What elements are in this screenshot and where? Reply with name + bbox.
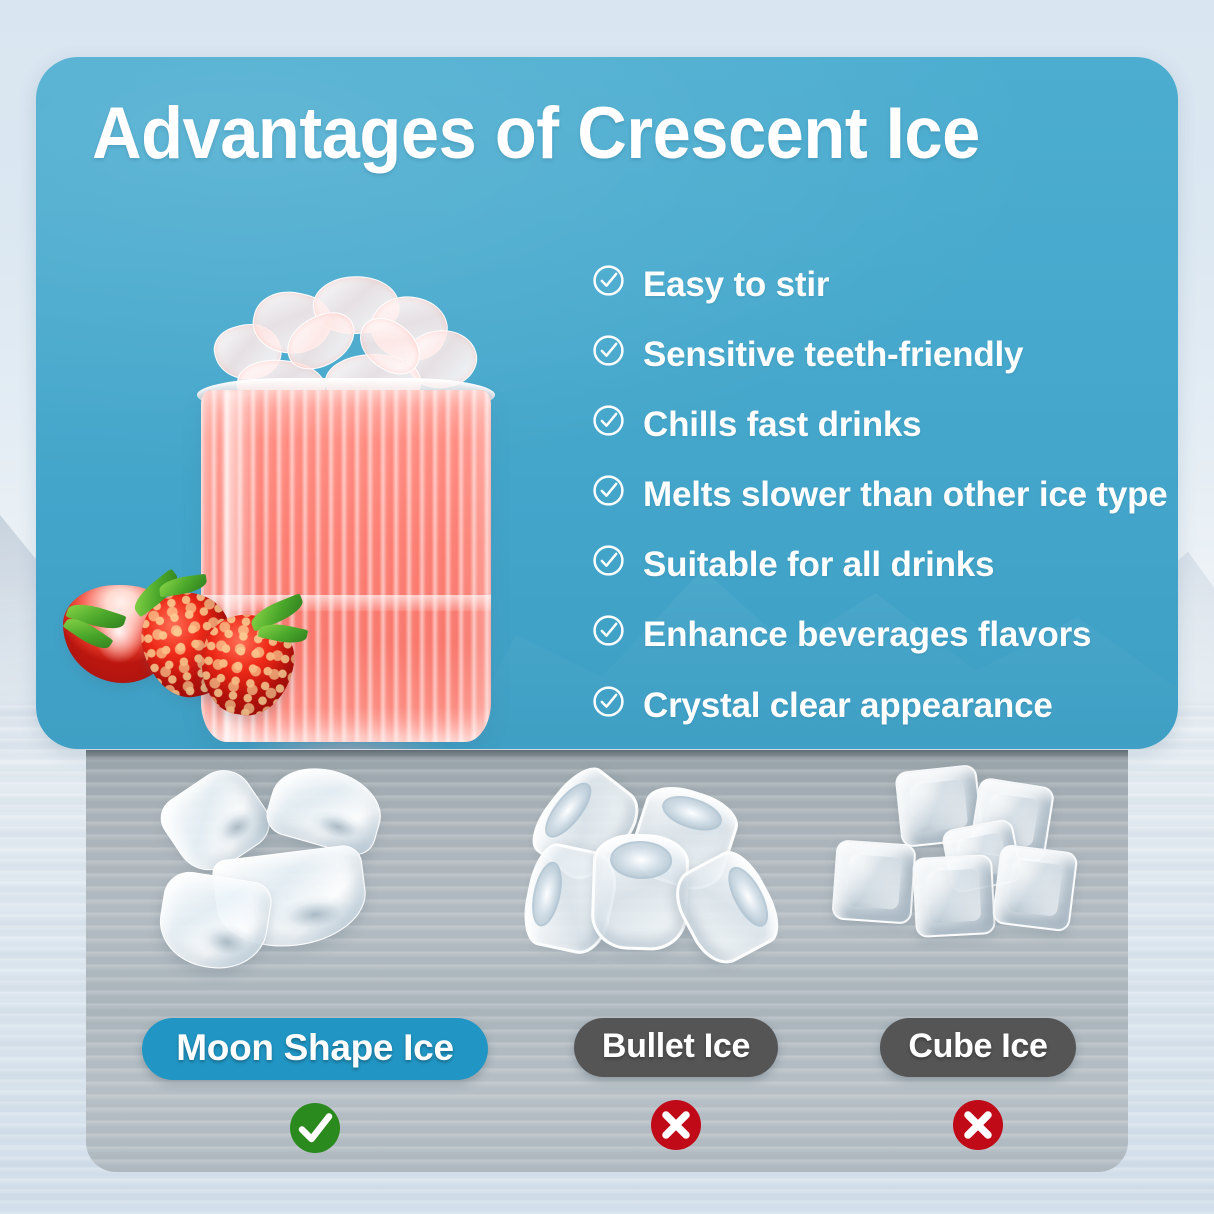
bullet-ice-bore <box>720 861 775 932</box>
page-title: Advantages of Crescent Ice <box>92 97 1070 170</box>
list-item: Melts slower than other ice type <box>592 469 1178 520</box>
moon-ice-hollow <box>273 891 357 937</box>
cube-ice-piece <box>991 844 1078 933</box>
red-cross-circle-icon <box>952 1099 1004 1151</box>
moon-shape-ice-verdict-row <box>120 1102 510 1154</box>
bullet-ice-bore <box>658 789 726 837</box>
cube-ice-label-row: Cube Ice <box>828 1018 1128 1077</box>
bullet-ice-photo <box>516 760 836 1012</box>
pink-drink-photo <box>61 177 581 749</box>
benefit-label: Melts slower than other ice type <box>643 469 1168 520</box>
green-check-circle-icon <box>289 1102 341 1154</box>
moon-ice-piece <box>262 756 391 860</box>
comparison-column-bullet-ice: Bullet Ice <box>516 760 836 1172</box>
check-circle-icon <box>592 614 625 647</box>
cube-ice-verdict-row <box>828 1099 1128 1151</box>
moon-ice-piece <box>153 868 274 976</box>
list-item: Enhance beverages flavors <box>592 609 1178 660</box>
bullet-ice-label-row: Bullet Ice <box>516 1018 836 1077</box>
status-badge-moon-shape-ice: Moon Shape Ice <box>142 1018 487 1080</box>
list-item: Suitable for all drinks <box>592 539 1178 590</box>
bullet-ice-bore <box>537 776 599 845</box>
strawberries-group <box>63 585 293 733</box>
check-circle-icon <box>592 685 625 718</box>
status-badge-cube-ice: Cube Ice <box>880 1018 1075 1077</box>
check-circle-icon <box>592 334 625 367</box>
cube-ice-piece <box>831 839 916 924</box>
comparison-column-moon-shape-ice: Moon Shape Ice <box>120 760 510 1172</box>
list-item: Sensitive teeth-friendly <box>592 329 1178 380</box>
check-circle-icon <box>592 404 625 437</box>
moon-ice-hollow <box>196 920 258 965</box>
list-item: Crystal clear appearance <box>592 680 1178 731</box>
infographic-page: Advantages of Crescent Ice <box>0 0 1214 1214</box>
cube-ice-piece <box>912 854 996 938</box>
red-cross-circle-icon <box>650 1099 702 1151</box>
bullet-ice-verdict-row <box>516 1099 836 1151</box>
check-circle-icon <box>592 474 625 507</box>
benefits-list: Easy to stir Sensitive teeth-friendly <box>592 259 1178 749</box>
ice-comparison-panel: Moon Shape Ice Bullet I <box>86 750 1128 1172</box>
moon-ice-hollow <box>207 799 268 855</box>
moon-ice-hollow <box>305 804 370 849</box>
check-circle-icon <box>592 544 625 577</box>
list-item: Chills fast drinks <box>592 399 1178 450</box>
benefit-label: Enhance beverages flavors <box>643 609 1091 660</box>
bullet-ice-bore <box>610 840 672 880</box>
benefit-label: Suitable for all drinks <box>643 539 994 590</box>
hero-card: Advantages of Crescent Ice <box>36 57 1178 749</box>
status-badge-bullet-ice: Bullet Ice <box>574 1018 778 1077</box>
check-circle-icon <box>592 264 625 297</box>
benefit-label: Chills fast drinks <box>643 399 921 450</box>
cube-ice-photo <box>828 760 1128 1012</box>
panel-top-band <box>86 750 1128 760</box>
moon-shape-ice-photo <box>120 760 510 1012</box>
benefit-label: Sensitive teeth-friendly <box>643 329 1023 380</box>
comparison-column-cube-ice: Cube Ice <box>828 760 1128 1172</box>
bullet-ice-bore <box>527 859 567 930</box>
benefit-label: Easy to stir <box>643 259 829 310</box>
benefit-label: Crystal clear appearance <box>643 680 1053 731</box>
list-item: Easy to stir <box>592 259 1178 310</box>
moon-shape-ice-label-row: Moon Shape Ice <box>120 1018 510 1080</box>
